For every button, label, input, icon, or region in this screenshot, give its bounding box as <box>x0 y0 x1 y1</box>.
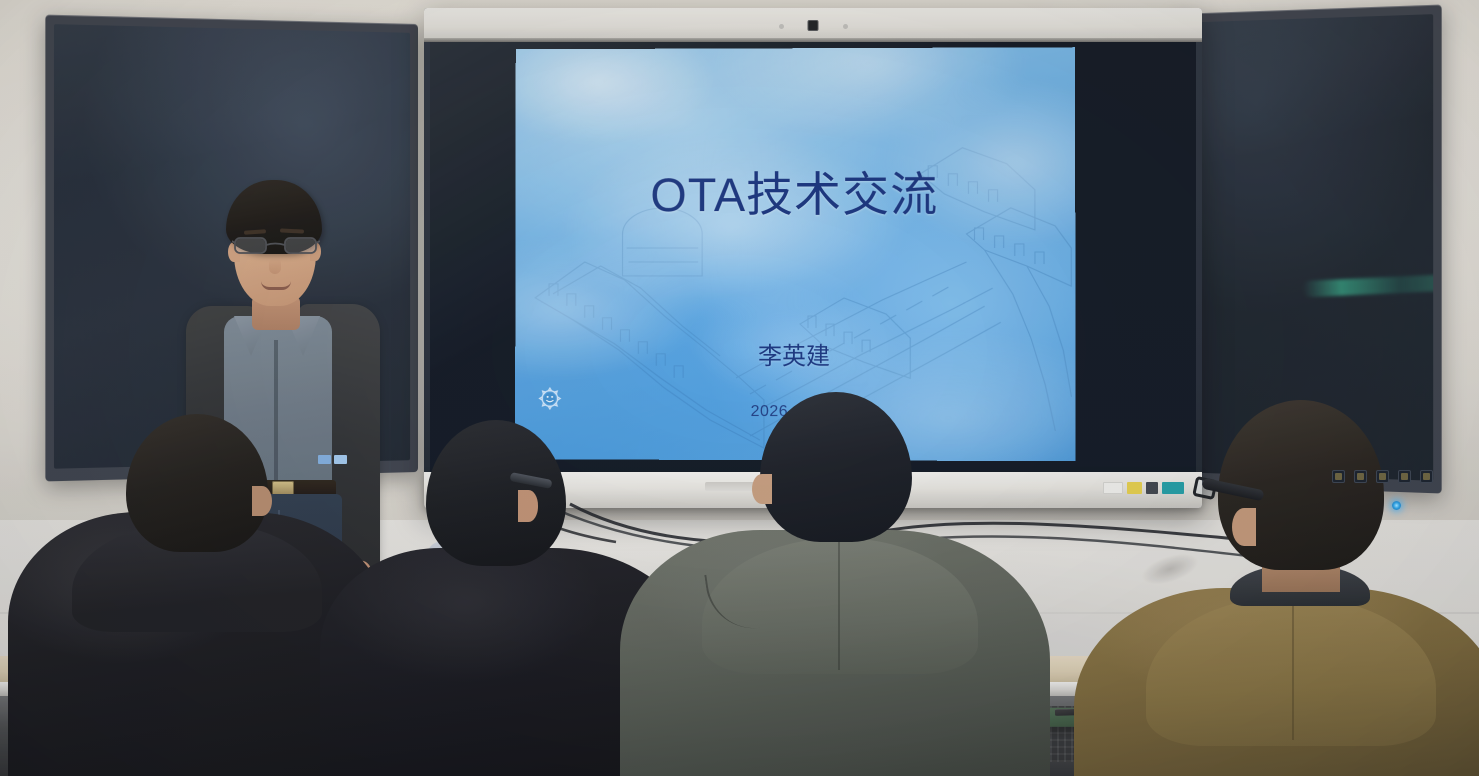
audience-4-hood-seam <box>1292 600 1294 740</box>
presenter-mouth <box>261 281 291 290</box>
power-led-icon <box>1392 501 1401 510</box>
display-button-4[interactable] <box>1398 470 1411 483</box>
audience-3-ear <box>752 474 772 504</box>
display-button-3[interactable] <box>1376 470 1389 483</box>
display-button-5[interactable] <box>1420 470 1433 483</box>
audience-3-head <box>760 392 912 542</box>
conference-room-photo: OTA技术交流 李英建 2026-03-25 <box>0 0 1479 776</box>
indicator-chip-a <box>318 455 331 464</box>
glasses-icon <box>232 234 320 256</box>
sensor-dot-left-icon <box>779 24 784 29</box>
green-light-reflection-icon <box>1302 271 1433 298</box>
presenter-nose <box>269 258 281 274</box>
audience-2-ear <box>518 490 538 522</box>
indicator-chip-b <box>334 455 347 464</box>
left-display-indicators <box>318 455 347 464</box>
audience-1-ear <box>252 486 272 516</box>
audience-3-hood-seam <box>838 542 840 670</box>
audience-4-ear <box>1232 508 1256 546</box>
display-button-1[interactable] <box>1332 470 1345 483</box>
right-display-button-strip[interactable] <box>1332 470 1433 483</box>
audience-1-head <box>126 414 268 552</box>
display-top-bezel <box>424 8 1202 42</box>
gear-smiley-logo-icon <box>537 386 563 412</box>
audience-member-3 <box>660 392 1020 776</box>
audience-member-4 <box>1110 400 1479 776</box>
camera-icon <box>808 20 819 31</box>
display-button-2[interactable] <box>1354 470 1367 483</box>
slide-title: OTA技术交流 <box>515 170 1075 220</box>
sensor-dot-right-icon <box>843 24 848 29</box>
slide-presenter-name: 李英建 <box>515 336 1075 372</box>
right-display-glare <box>1183 14 1433 247</box>
audience-2-head <box>426 420 566 566</box>
